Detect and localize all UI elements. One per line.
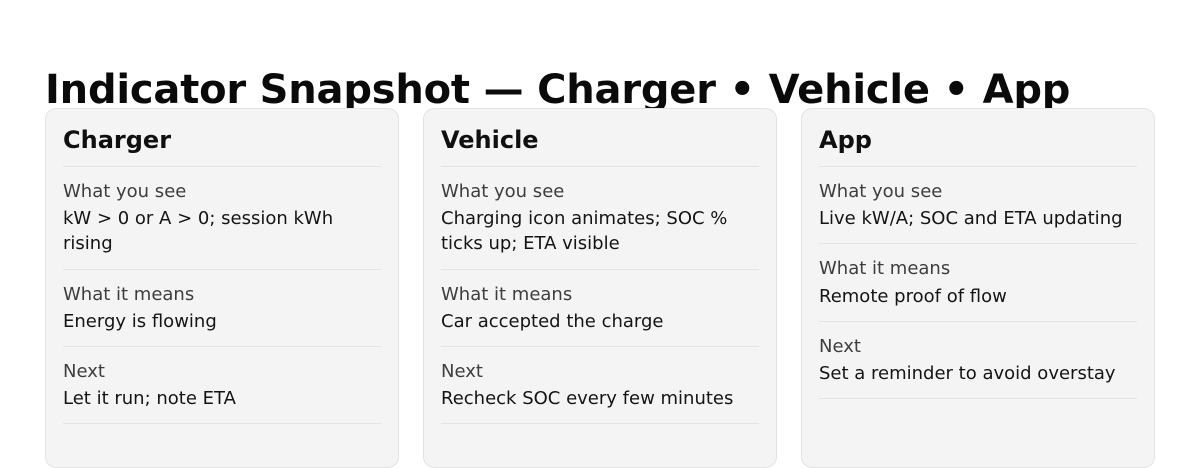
- field-next: Next Recheck SOC every few minutes: [441, 347, 759, 423]
- card-tail: [63, 424, 381, 468]
- field-value: Charging icon animates; SOC % ticks up; …: [441, 206, 759, 256]
- card-charger: Charger What you see kW > 0 or A > 0; se…: [45, 108, 399, 468]
- field-value: Energy is flowing: [63, 309, 381, 334]
- field-value: kW > 0 or A > 0; session kWh rising: [63, 206, 381, 256]
- field-next: Next Set a reminder to avoid overstay: [819, 322, 1137, 398]
- card-title: App: [819, 125, 1137, 155]
- field-label: What it means: [63, 282, 381, 307]
- field-what-you-see: What you see kW > 0 or A > 0; session kW…: [63, 167, 381, 269]
- card-tail: [441, 424, 759, 468]
- field-what-you-see: What you see Live kW/A; SOC and ETA upda…: [819, 167, 1137, 243]
- field-value: Car accepted the charge: [441, 309, 759, 334]
- indicator-snapshot-page: Indicator Snapshot — Charger • Vehicle •…: [0, 0, 1200, 442]
- card-title: Charger: [63, 125, 381, 155]
- field-label: What you see: [441, 179, 759, 204]
- card-row: Charger What you see kW > 0 or A > 0; se…: [45, 108, 1155, 468]
- field-label: What it means: [819, 256, 1137, 281]
- field-label: What it means: [441, 282, 759, 307]
- field-next: Next Let it run; note ETA: [63, 347, 381, 423]
- field-value: Let it run; note ETA: [63, 386, 381, 411]
- card-vehicle: Vehicle What you see Charging icon anima…: [423, 108, 777, 468]
- field-what-you-see: What you see Charging icon animates; SOC…: [441, 167, 759, 269]
- field-what-it-means: What it means Car accepted the charge: [441, 270, 759, 346]
- field-what-it-means: What it means Energy is flowing: [63, 270, 381, 346]
- field-label: What you see: [63, 179, 381, 204]
- card-title: Vehicle: [441, 125, 759, 155]
- field-label: Next: [441, 359, 759, 384]
- card-tail: [819, 399, 1137, 459]
- field-value: Live kW/A; SOC and ETA updating: [819, 206, 1137, 231]
- field-label: What you see: [819, 179, 1137, 204]
- field-label: Next: [63, 359, 381, 384]
- field-label: Next: [819, 334, 1137, 359]
- field-value: Remote proof of flow: [819, 284, 1137, 309]
- field-value: Recheck SOC every few minutes: [441, 386, 759, 411]
- field-value: Set a reminder to avoid overstay: [819, 361, 1137, 386]
- field-what-it-means: What it means Remote proof of flow: [819, 244, 1137, 320]
- card-app: App What you see Live kW/A; SOC and ETA …: [801, 108, 1155, 468]
- page-title: Indicator Snapshot — Charger • Vehicle •…: [45, 67, 1070, 113]
